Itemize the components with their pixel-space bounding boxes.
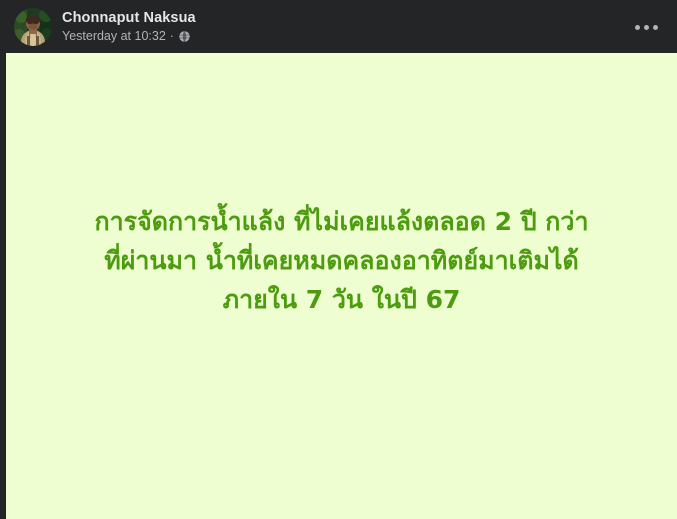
facebook-post: Chonnaput Naksua Yesterday at 10:32 · xyxy=(0,0,677,519)
post-message-line: ภายใน 7 วัน ในปี 67 xyxy=(20,280,663,319)
post-body: การจัดการน้ำแล้ง ที่ไม่เคยแล้งตลอด 2 ปี … xyxy=(0,53,677,519)
meta-separator: · xyxy=(170,29,174,44)
post-message-line: ที่ผ่านมา น้ำที่เคยหมดคลองอาทิตย์มาเติมไ… xyxy=(20,241,663,280)
avatar-image xyxy=(14,8,52,46)
ellipsis-icon-dot xyxy=(644,25,649,30)
avatar[interactable] xyxy=(14,8,52,46)
globe-icon-glyph xyxy=(178,30,191,43)
post-options-menu-button[interactable] xyxy=(631,16,661,38)
post-meta: Yesterday at 10:32 · xyxy=(62,29,196,44)
background-post-card[interactable]: การจัดการน้ำแล้ง ที่ไม่เคยแล้งตลอด 2 ปี … xyxy=(6,53,677,519)
post-message-line: การจัดการน้ำแล้ง ที่ไม่เคยแล้งตลอด 2 ปี … xyxy=(20,202,663,241)
post-message: การจัดการน้ำแล้ง ที่ไม่เคยแล้งตลอด 2 ปี … xyxy=(20,202,663,319)
post-header: Chonnaput Naksua Yesterday at 10:32 · xyxy=(0,0,677,53)
post-timestamp[interactable]: Yesterday at 10:32 xyxy=(62,29,166,44)
globe-icon[interactable] xyxy=(178,30,191,43)
ellipsis-icon-dot xyxy=(635,25,640,30)
post-author-block: Chonnaput Naksua Yesterday at 10:32 · xyxy=(62,10,196,44)
ellipsis-icon-dot xyxy=(653,25,658,30)
author-name[interactable]: Chonnaput Naksua xyxy=(62,10,196,27)
